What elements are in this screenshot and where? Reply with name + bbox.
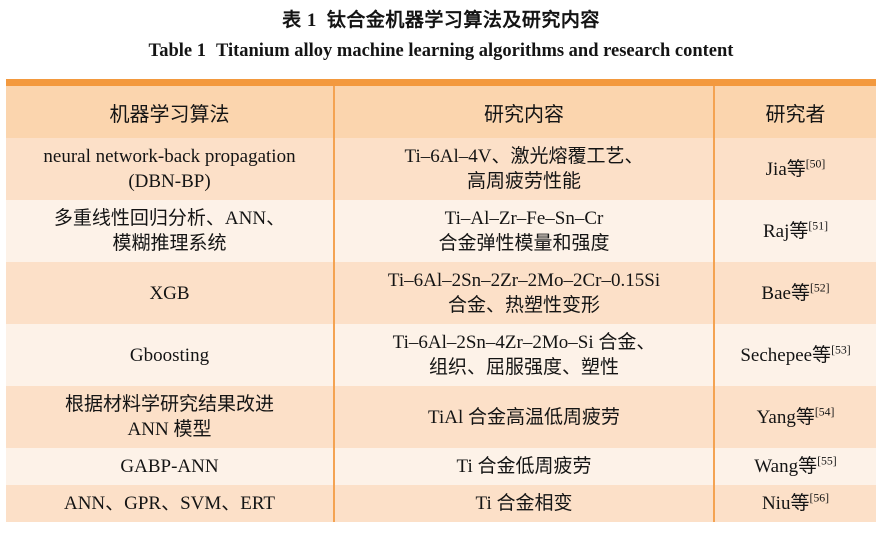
caption-chinese: 表 1钛合金机器学习算法及研究内容 [0, 0, 882, 34]
researcher-name-wrapper: Sechepee等[53] [740, 345, 850, 366]
cell-algorithm-line: (DBN-BP) [14, 169, 325, 194]
cell-research-content-line: Ti 合金相变 [343, 491, 705, 516]
caption-english-title: Titanium alloy machine learning algorith… [216, 41, 734, 61]
table-top-rule [6, 79, 876, 86]
cell-research-content-line: TiAl 合金高温低周疲劳 [343, 405, 705, 430]
data-table: 机器学习算法 研究内容 研究者 neural network-back prop… [6, 79, 876, 522]
cell-research-content: TiAl 合金高温低周疲劳 [334, 386, 714, 448]
cell-algorithm-line: 多重线性回归分析、ANN、 [14, 206, 325, 231]
cell-research-content: Ti–6Al–2Sn–4Zr–2Mo–Si 合金、组织、屈服强度、塑性 [334, 324, 714, 386]
researcher-name: Sechepee等 [740, 345, 831, 366]
cell-algorithm-line: neural network-back propagation [14, 144, 325, 169]
column-header-algorithm: 机器学习算法 [6, 86, 334, 138]
reference-citation[interactable]: [54] [815, 405, 835, 418]
cell-research-content: Ti–6Al–2Sn–2Zr–2Mo–2Cr–0.15Si合金、热塑性变形 [334, 262, 714, 324]
cell-research-content-line: Ti–Al–Zr–Fe–Sn–Cr [343, 206, 705, 231]
reference-citation[interactable]: [51] [808, 219, 828, 232]
table-row: neural network-back propagation(DBN-BP)T… [6, 138, 876, 200]
table-row: ANN、GPR、SVM、ERTTi 合金相变Niu等[56] [6, 485, 876, 522]
cell-researcher: Sechepee等[53] [714, 324, 876, 386]
cell-algorithm: neural network-back propagation(DBN-BP) [6, 138, 334, 200]
researcher-name: Yang等 [757, 407, 815, 428]
reference-citation[interactable]: [56] [809, 492, 829, 505]
researcher-name: Wang等 [754, 456, 817, 477]
cell-algorithm-line: 根据材料学研究结果改进 [14, 392, 325, 417]
cell-algorithm-line: ANN 模型 [14, 417, 325, 442]
cell-algorithm-line: 模糊推理系统 [14, 231, 325, 256]
researcher-name: Niu等 [762, 493, 810, 514]
cell-research-content-line: Ti–6Al–4V、激光熔覆工艺、 [343, 144, 705, 169]
researcher-name-wrapper: Jia等[50] [766, 159, 826, 180]
caption-chinese-title: 钛合金机器学习算法及研究内容 [327, 10, 600, 31]
cell-research-content: Ti 合金相变 [334, 485, 714, 522]
researcher-name-wrapper: Niu等[56] [762, 493, 829, 514]
cell-algorithm-line: Gboosting [14, 343, 325, 368]
table-row: 多重线性回归分析、ANN、模糊推理系统Ti–Al–Zr–Fe–Sn–Cr合金弹性… [6, 200, 876, 262]
cell-research-content: Ti–Al–Zr–Fe–Sn–Cr合金弹性模量和强度 [334, 200, 714, 262]
cell-algorithm: Gboosting [6, 324, 334, 386]
table-body: neural network-back propagation(DBN-BP)T… [6, 138, 876, 522]
cell-research-content-line: Ti 合金低周疲劳 [343, 454, 705, 479]
cell-research-content-line: 合金、热塑性变形 [343, 293, 705, 318]
rule-segment-1 [6, 79, 334, 86]
cell-algorithm: GABP-ANN [6, 448, 334, 485]
researcher-name: Raj等 [763, 221, 808, 242]
table-row: GboostingTi–6Al–2Sn–4Zr–2Mo–Si 合金、组织、屈服强… [6, 324, 876, 386]
cell-algorithm-line: ANN、GPR、SVM、ERT [14, 491, 325, 516]
cell-research-content-line: 组织、屈服强度、塑性 [343, 355, 705, 380]
cell-research-content-line: 高周疲劳性能 [343, 169, 705, 194]
cell-algorithm-line: GABP-ANN [14, 454, 325, 479]
cell-research-content-line: Ti–6Al–2Sn–2Zr–2Mo–2Cr–0.15Si [343, 268, 705, 293]
reference-citation[interactable]: [55] [817, 455, 837, 468]
researcher-name-wrapper: Raj等[51] [763, 221, 828, 242]
researcher-name-wrapper: Yang等[54] [757, 407, 835, 428]
table-row: XGBTi–6Al–2Sn–2Zr–2Mo–2Cr–0.15Si合金、热塑性变形… [6, 262, 876, 324]
table-header-row: 机器学习算法 研究内容 研究者 [6, 86, 876, 138]
cell-algorithm-line: XGB [14, 281, 325, 306]
caption-chinese-number: 表 1 [282, 10, 327, 31]
cell-researcher: Jia等[50] [714, 138, 876, 200]
cell-research-content-line: 合金弹性模量和强度 [343, 231, 705, 256]
researcher-name: Jia等 [766, 159, 806, 180]
cell-research-content: Ti–6Al–4V、激光熔覆工艺、高周疲劳性能 [334, 138, 714, 200]
cell-research-content: Ti 合金低周疲劳 [334, 448, 714, 485]
cell-researcher: Raj等[51] [714, 200, 876, 262]
cell-researcher: Wang等[55] [714, 448, 876, 485]
data-table-container: 机器学习算法 研究内容 研究者 neural network-back prop… [6, 79, 876, 547]
caption-english: Table 1Titanium alloy machine learning a… [0, 34, 882, 64]
cell-research-content-line: Ti–6Al–2Sn–4Zr–2Mo–Si 合金、 [343, 330, 705, 355]
table-page: 表 1钛合金机器学习算法及研究内容 Table 1Titanium alloy … [0, 0, 882, 552]
table-row: 根据材料学研究结果改进ANN 模型TiAl 合金高温低周疲劳Yang等[54] [6, 386, 876, 448]
rule-segment-3 [714, 79, 876, 86]
cell-algorithm: 多重线性回归分析、ANN、模糊推理系统 [6, 200, 334, 262]
column-header-content: 研究内容 [334, 86, 714, 138]
cell-researcher: Niu等[56] [714, 485, 876, 522]
caption-english-number: Table 1 [149, 41, 216, 61]
researcher-name: Bae等 [761, 283, 810, 304]
table-head: 机器学习算法 研究内容 研究者 [6, 79, 876, 138]
researcher-name-wrapper: Bae等[52] [761, 283, 829, 304]
cell-researcher: Yang等[54] [714, 386, 876, 448]
reference-citation[interactable]: [53] [831, 343, 851, 356]
cell-algorithm: XGB [6, 262, 334, 324]
rule-segment-2 [334, 79, 714, 86]
reference-citation[interactable]: [50] [806, 157, 826, 170]
cell-algorithm: ANN、GPR、SVM、ERT [6, 485, 334, 522]
researcher-name-wrapper: Wang等[55] [754, 456, 836, 477]
column-header-researcher: 研究者 [714, 86, 876, 138]
cell-algorithm: 根据材料学研究结果改进ANN 模型 [6, 386, 334, 448]
cell-researcher: Bae等[52] [714, 262, 876, 324]
reference-citation[interactable]: [52] [810, 281, 830, 294]
table-row: GABP-ANNTi 合金低周疲劳Wang等[55] [6, 448, 876, 485]
